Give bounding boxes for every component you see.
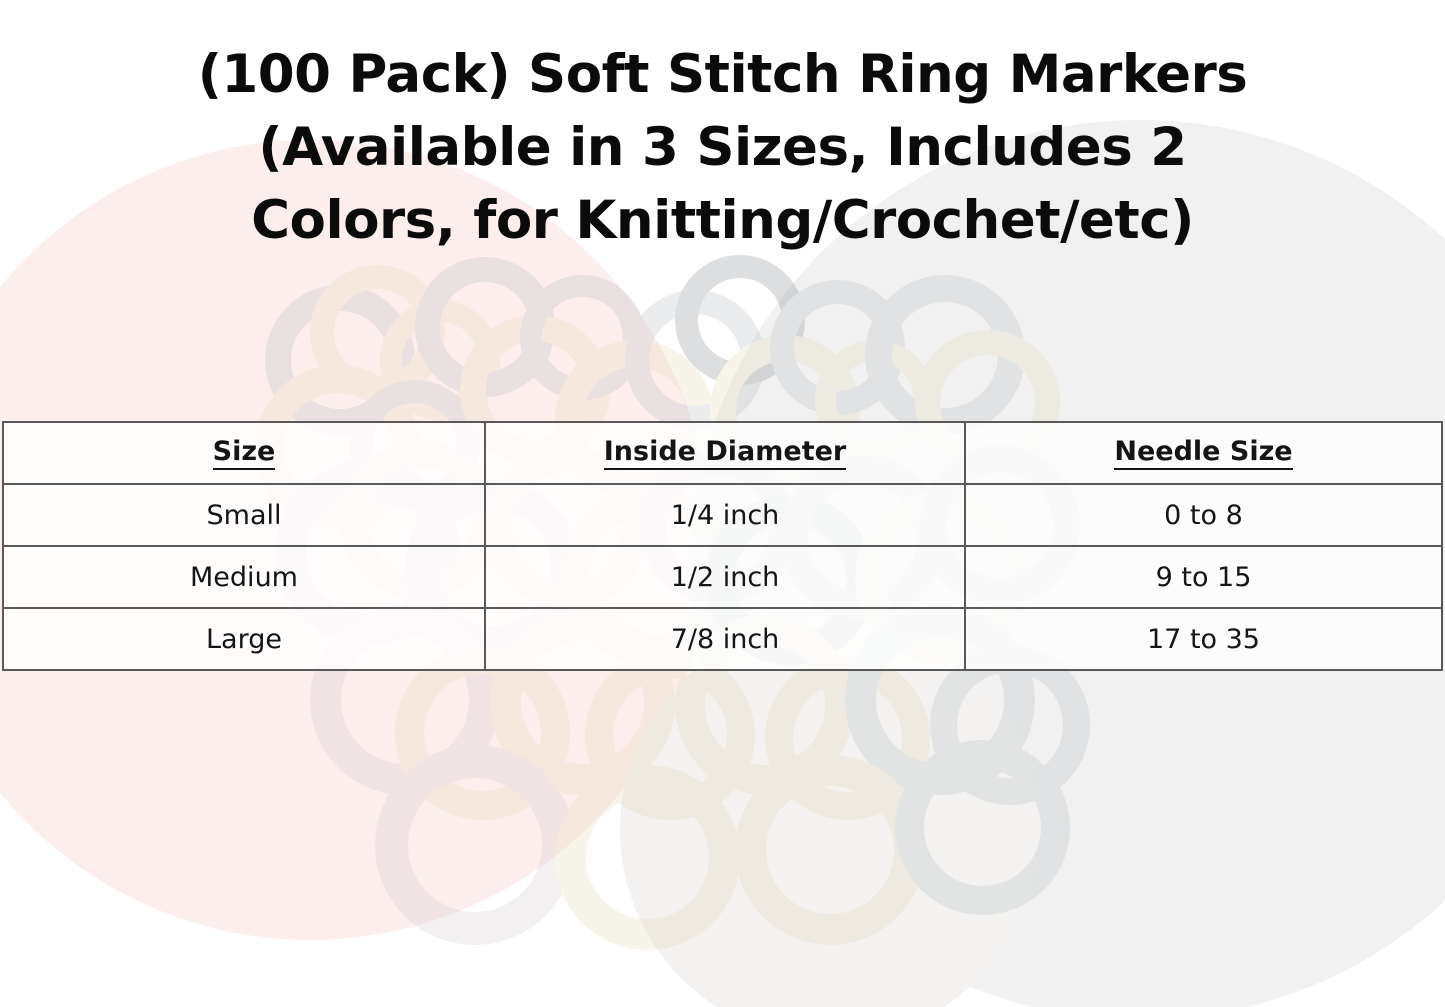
column-header-inside-diameter-label: Inside Diameter bbox=[604, 437, 847, 470]
cell-needle-size: 0 to 8 bbox=[965, 484, 1442, 546]
product-infographic-page: (100 Pack) Soft Stitch Ring Markers (Ava… bbox=[0, 0, 1445, 1007]
table-row: Large 7/8 inch 17 to 35 bbox=[3, 608, 1442, 670]
size-chart-body: Small 1/4 inch 0 to 8 Medium 1/2 inch 9 … bbox=[3, 484, 1442, 670]
cell-needle-size: 9 to 15 bbox=[965, 546, 1442, 608]
page-title-line-1: (100 Pack) Soft Stitch Ring Markers bbox=[0, 38, 1445, 111]
table-row: Medium 1/2 inch 9 to 15 bbox=[3, 546, 1442, 608]
page-title-line-3: Colors, for Knitting/Crochet/etc) bbox=[0, 184, 1445, 257]
cell-inside-diameter: 1/2 inch bbox=[485, 546, 965, 608]
size-chart-head: Size Inside Diameter Needle Size bbox=[3, 422, 1442, 484]
size-chart-table: Size Inside Diameter Needle Size Small 1… bbox=[2, 421, 1443, 671]
column-header-needle-size: Needle Size bbox=[965, 422, 1442, 484]
table-header-row: Size Inside Diameter Needle Size bbox=[3, 422, 1442, 484]
cell-needle-size: 17 to 35 bbox=[965, 608, 1442, 670]
cell-inside-diameter: 7/8 inch bbox=[485, 608, 965, 670]
cell-size: Large bbox=[3, 608, 485, 670]
cell-size: Medium bbox=[3, 546, 485, 608]
page-title: (100 Pack) Soft Stitch Ring Markers (Ava… bbox=[0, 36, 1445, 257]
column-header-size: Size bbox=[3, 422, 485, 484]
table-row: Small 1/4 inch 0 to 8 bbox=[3, 484, 1442, 546]
cell-inside-diameter: 1/4 inch bbox=[485, 484, 965, 546]
cell-size: Small bbox=[3, 484, 485, 546]
column-header-size-label: Size bbox=[213, 437, 276, 470]
page-title-line-2: (Available in 3 Sizes, Includes 2 bbox=[0, 111, 1445, 184]
column-header-inside-diameter: Inside Diameter bbox=[485, 422, 965, 484]
column-header-needle-size-label: Needle Size bbox=[1114, 437, 1292, 470]
